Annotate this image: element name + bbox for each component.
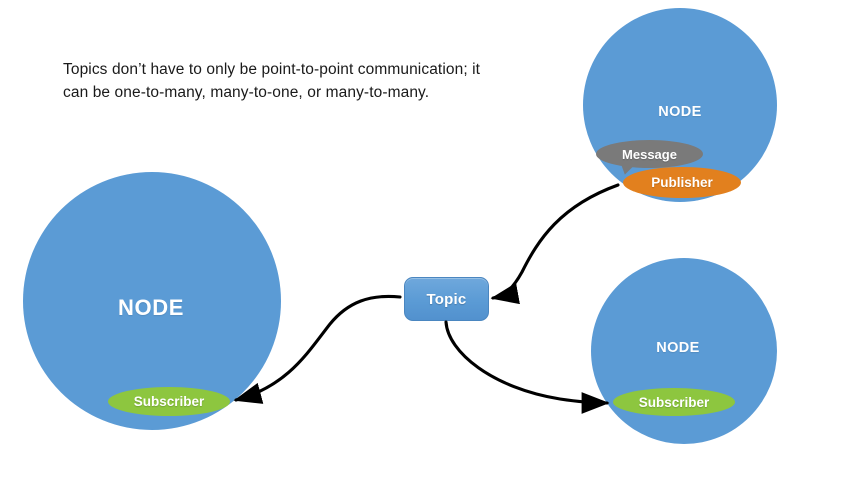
topic-box[interactable]: Topic — [404, 277, 489, 321]
caption-text: Topics don’t have to only be point-to-po… — [63, 58, 483, 105]
publisher-pill-label: Publisher — [651, 175, 713, 190]
node-label-bottom-right: NODE — [656, 340, 700, 356]
arrow-publisher-to-topic — [493, 185, 618, 298]
arrow-topic-to-subscriber-bottom-right — [446, 322, 607, 403]
message-pill-top-right[interactable]: Message — [596, 140, 703, 168]
subscriber-pill-bottom-right-label: Subscriber — [639, 395, 710, 410]
subscriber-pill-left[interactable]: Subscriber — [108, 387, 230, 416]
message-pill-label: Message — [622, 147, 677, 162]
node-label-left: NODE — [118, 295, 184, 321]
subscriber-pill-left-label: Subscriber — [134, 394, 205, 409]
node-label-top-right: NODE — [658, 104, 702, 120]
subscriber-pill-bottom-right[interactable]: Subscriber — [613, 388, 735, 416]
publisher-pill-top-right[interactable]: Publisher — [623, 167, 741, 198]
topic-box-label: Topic — [427, 291, 467, 308]
slide-canvas: Topics don’t have to only be point-to-po… — [0, 0, 854, 480]
